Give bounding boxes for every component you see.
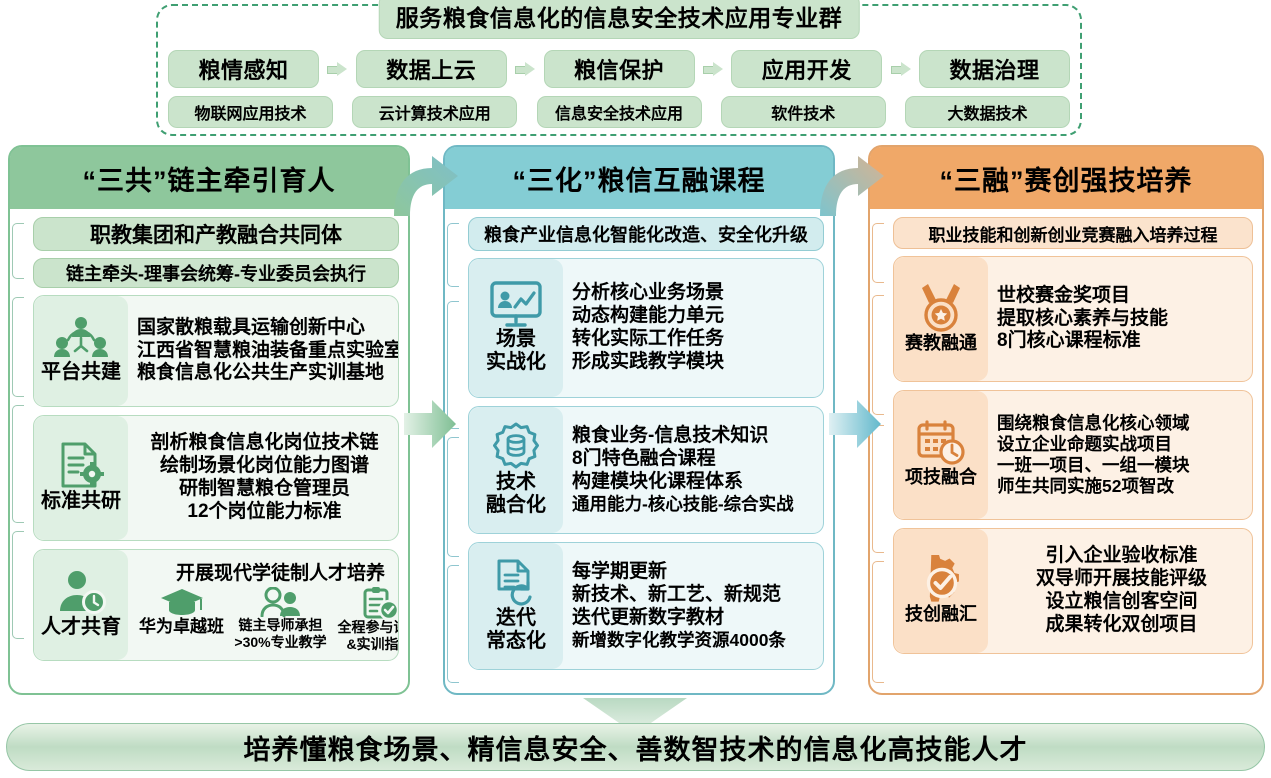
program-cluster-panel: 服务粮食信息化的信息安全技术应用专业群 粮情感知 数据上云 粮信保护 应用开发 …	[156, 4, 1082, 136]
scenario-line-4: 形成实践教学模块	[572, 351, 817, 374]
card-iteration-text: 每学期更新 新技术、新工艺、新规范 迭代更新数字教材 新增数字化教学资源4000…	[563, 543, 823, 669]
person-clock-icon	[55, 569, 107, 615]
column-left-header: “三共”链主牵引育人	[10, 147, 408, 209]
card-scenario-tag: 场景 实战化	[469, 259, 563, 397]
card-innovation-text: 引入企业验收标准 双导师开展技能评级 设立粮信创客空间 成果转化双创项目	[988, 529, 1252, 653]
curved-arrow-mid-to-right-icon	[818, 150, 888, 220]
card-talent-text: 开展现代学徒制人才培养 华为卓越班	[128, 550, 399, 660]
major-box-4[interactable]: 应用开发	[731, 50, 882, 88]
competition-line-1: 世校赛金奖项目	[997, 285, 1246, 308]
sub-major-box-2[interactable]: 云计算技术应用	[352, 96, 517, 128]
card-tech-text: 粮食业务-信息技术知识 8门特色融合课程 构建模块化课程体系 通用能力-核心技能…	[563, 407, 823, 533]
column-mid-header: “三化”粮信互融课程	[445, 147, 833, 209]
card-platform-tag-label: 平台共建	[41, 362, 121, 383]
standard-line-3: 研制智慧粮仓管理员	[137, 478, 392, 501]
band-governance: 链主牵头-理事会统筹-专业委员会执行	[33, 258, 399, 288]
talent-entry-1: 华为卓越班	[134, 587, 229, 637]
connector-rail-right-1	[872, 223, 884, 283]
column-sanhua: “三化”粮信互融课程 粮食产业信息化智能化改造、安全化升级	[443, 145, 835, 695]
card-scenario-text: 分析核心业务场景 动态构建能力单元 转化实际工作任务 形成实践教学模块	[563, 259, 823, 397]
card-scenario-tag-l1: 场景	[496, 329, 536, 350]
platform-line-3: 粮食信息化公共生产实训基地	[137, 362, 399, 385]
scenario-line-1: 分析核心业务场景	[572, 282, 817, 305]
connector-rail-mid-3	[447, 437, 459, 557]
card-project-tag: 项技融合	[894, 391, 988, 519]
project-line-3: 一班一项目、一组一模块	[997, 455, 1246, 476]
card-competition-tag-label: 赛教融通	[905, 334, 977, 353]
band-competition-integration: 职业技能和创新创业竞赛融入培养过程	[893, 217, 1253, 249]
curved-arrow-left-to-mid-icon	[392, 150, 462, 220]
talent-caption-3a: 全程参与评价	[338, 619, 400, 635]
calendar-clock-icon	[916, 420, 966, 466]
gear-database-icon	[491, 422, 541, 470]
talent-caption-3b: &实训指导	[346, 636, 399, 652]
connector-rail-left-3	[12, 405, 24, 523]
tech-line-1: 粮食业务-信息技术知识	[572, 425, 817, 448]
column-mid-body: 粮食产业信息化智能化改造、安全化升级 场景 实战化	[445, 209, 833, 687]
project-line-2: 设立企业命题实战项目	[997, 434, 1246, 455]
innovation-line-1: 引入企业验收标准	[997, 545, 1246, 568]
column-right-header: “三融”赛创强技培养	[870, 147, 1262, 209]
card-competition-tag: 赛教融通	[894, 257, 988, 381]
competition-line-3: 8门核心课程标准	[997, 330, 1246, 353]
arrow-right-icon-3	[703, 62, 723, 76]
connector-rail-mid-1	[447, 223, 459, 287]
talent-entries: 华为卓越班 链主导师承担 >30%专业教学	[134, 587, 399, 651]
band-vocational-group: 职教集团和产教融合共同体	[33, 217, 399, 251]
card-platform-cobuild[interactable]: 平台共建 国家散粮载具运输创新中心 江西省智慧粮油装备重点实验室 粮食信息化公共…	[33, 295, 399, 407]
arrow-right-icon-1	[327, 62, 347, 76]
sub-major-box-5[interactable]: 大数据技术	[905, 96, 1070, 128]
arrow-right-mid-to-right-icon	[829, 396, 881, 452]
iteration-line-3: 迭代更新数字教材	[572, 607, 817, 630]
talent-caption-1a: 华为卓越班	[139, 617, 224, 637]
card-standard-tag-label: 标准共研	[41, 491, 121, 512]
bottom-goal-banner: 培养懂粮食场景、精信息安全、善数智技术的信息化高技能人才	[6, 723, 1265, 771]
column-left-body: 职教集团和产教融合共同体 链主牵头-理事会统筹-专业委员会执行	[10, 209, 408, 678]
talent-caption-2b: >30%专业教学	[234, 634, 326, 650]
arrow-right-left-to-mid-icon	[404, 396, 456, 452]
card-tech-fusion[interactable]: 技术 融合化 粮食业务-信息技术知识 8门特色融合课程 构建模块化课程体系 通用…	[468, 406, 824, 534]
infographic-root: 服务粮食信息化的信息安全技术应用专业群 粮情感知 数据上云 粮信保护 应用开发 …	[0, 0, 1271, 778]
team-network-icon	[54, 316, 108, 360]
project-line-4: 师生共同实施52项智改	[997, 476, 1246, 497]
band-industry-upgrade: 粮食产业信息化智能化改造、安全化升级	[468, 217, 824, 251]
scenario-line-2: 动态构建能力单元	[572, 305, 817, 328]
innovation-line-3: 设立粮信创客空间	[997, 591, 1246, 614]
iteration-line-2: 新技术、新工艺、新规范	[572, 584, 817, 607]
card-project-skill[interactable]: 项技融合 围绕粮食信息化核心领域 设立企业命题实战项目 一班一项目、一组一模块 …	[893, 390, 1253, 520]
talent-caption-2a: 链主导师承担	[239, 617, 323, 633]
document-gear-icon	[56, 441, 106, 489]
card-iteration-tag: 迭代 常态化	[469, 543, 563, 669]
card-standard-coresearch[interactable]: 标准共研 剖析粮食信息化岗位技术链 绘制场景化岗位能力图谱 研制智慧粮仓管理员 …	[33, 415, 399, 541]
card-competition-teaching[interactable]: 赛教融通 世校赛金奖项目 提取核心素养与技能 8门核心课程标准	[893, 256, 1253, 382]
standard-line-4: 12个岗位能力标准	[137, 501, 392, 524]
clipboard-check-icon	[360, 587, 400, 619]
column-right-body: 职业技能和创新创业竞赛融入培养过程 赛教融通 世校赛金奖项目	[870, 209, 1262, 671]
graduation-cap-icon	[159, 587, 205, 617]
connector-rail-mid-4	[447, 565, 459, 683]
tech-line-3: 构建模块化课程体系	[572, 471, 817, 494]
platform-line-1: 国家散粮载具运输创新中心	[137, 317, 399, 340]
program-cluster-title: 服务粮食信息化的信息安全技术应用专业群	[379, 0, 860, 39]
major-box-2[interactable]: 数据上云	[356, 50, 507, 88]
major-name-row: 物联网应用技术 云计算技术应用 信息安全技术应用 软件技术 大数据技术	[168, 96, 1070, 128]
card-talent-tag: 人才共育	[34, 550, 128, 660]
card-talent-tag-label: 人才共育	[41, 617, 121, 638]
standard-line-2: 绘制场景化岗位能力图谱	[137, 455, 392, 478]
card-iteration-tag-l2: 常态化	[486, 631, 546, 652]
connector-rail-left-1	[12, 223, 24, 279]
connector-rail-right-4	[872, 561, 884, 683]
platform-line-2: 江西省智慧粮油装备重点实验室	[137, 340, 399, 363]
sub-major-box-3[interactable]: 信息安全技术应用	[537, 96, 702, 128]
medal-icon	[916, 282, 966, 332]
card-project-tag-label: 项技融合	[905, 468, 977, 487]
card-platform-tag: 平台共建	[34, 296, 128, 406]
document-refresh-icon	[492, 558, 540, 606]
tech-line-4: 通用能力-核心技能-综合实战	[572, 494, 817, 515]
column-sanrong: “三融”赛创强技培养 职业技能和创新创业竞赛融入培养过程	[868, 145, 1264, 695]
major-box-3[interactable]: 粮信保护	[544, 50, 695, 88]
sub-major-box-1[interactable]: 物联网应用技术	[168, 96, 333, 128]
card-tech-tag-l1: 技术	[496, 472, 536, 493]
project-line-1: 围绕粮食信息化核心领域	[997, 413, 1246, 434]
talent-entry-2: 链主导师承担 >30%专业教学	[233, 587, 328, 649]
column-sangong: “三共”链主牵引育人 职教集团和产教融合共同体 链主牵头-理事会统筹-专业委员会…	[8, 145, 410, 695]
card-standard-text: 剖析粮食信息化岗位技术链 绘制场景化岗位能力图谱 研制智慧粮仓管理员 12个岗位…	[128, 416, 398, 540]
card-innovation-tag: 技创融汇	[894, 529, 988, 653]
arrow-right-icon-2	[515, 62, 535, 76]
talent-entry-3: 全程参与评价 &实训指导	[332, 587, 399, 651]
iteration-line-1: 每学期更新	[572, 561, 817, 584]
connector-rail-left-2	[12, 297, 24, 397]
major-box-1[interactable]: 粮情感知	[168, 50, 319, 88]
major-direction-row: 粮情感知 数据上云 粮信保护 应用开发 数据治理	[168, 50, 1070, 88]
card-iteration-normalized[interactable]: 迭代 常态化 每学期更新 新技术、新工艺、新规范 迭代更新数字教材 新增数字化教…	[468, 542, 824, 670]
innovation-line-2: 双导师开展技能评级	[997, 568, 1246, 591]
card-innovation-tag-label: 技创融汇	[905, 605, 977, 624]
card-competition-text: 世校赛金奖项目 提取核心素养与技能 8门核心课程标准	[988, 257, 1252, 381]
connector-rail-left-4	[12, 531, 24, 639]
card-scenario-tag-l2: 实战化	[486, 352, 546, 373]
major-box-5[interactable]: 数据治理	[919, 50, 1070, 88]
card-iteration-tag-l1: 迭代	[496, 608, 536, 629]
tech-line-2: 8门特色融合课程	[572, 448, 817, 471]
innovation-line-4: 成果转化双创项目	[997, 614, 1246, 637]
sub-major-box-4[interactable]: 软件技术	[721, 96, 886, 128]
two-people-icon	[259, 587, 303, 617]
talent-heading: 开展现代学徒制人才培养	[134, 558, 399, 585]
card-skill-innovation[interactable]: 技创融汇 引入企业验收标准 双导师开展技能评级 设立粮信创客空间 成果转化双创项…	[893, 528, 1253, 654]
gear-check-icon	[916, 555, 966, 603]
scenario-line-3: 转化实际工作任务	[572, 328, 817, 351]
iteration-line-4: 新增数字化教学资源4000条	[572, 630, 817, 651]
card-tech-tag: 技术 融合化	[469, 407, 563, 533]
card-project-text: 围绕粮食信息化核心领域 设立企业命题实战项目 一班一项目、一组一模块 师生共同实…	[988, 391, 1252, 519]
card-platform-text: 国家散粮载具运输创新中心 江西省智慧粮油装备重点实验室 粮食信息化公共生产实训基…	[128, 296, 399, 406]
bottom-goal-text: 培养懂粮食场景、精信息安全、善数智技术的信息化高技能人才	[244, 728, 1028, 767]
card-talent-coeducation[interactable]: 人才共育 开展现代学徒制人才培养 华为卓越班	[33, 549, 399, 661]
standard-line-1: 剖析粮食信息化岗位技术链	[137, 432, 392, 455]
card-scenario-practice[interactable]: 场景 实战化 分析核心业务场景 动态构建能力单元 转化实际工作任务 形成实践教学…	[468, 258, 824, 398]
card-standard-tag: 标准共研	[34, 416, 128, 540]
competition-line-2: 提取核心素养与技能	[997, 308, 1246, 331]
monitor-chart-icon	[489, 281, 543, 327]
card-tech-tag-l2: 融合化	[486, 495, 546, 516]
arrow-right-icon-4	[891, 62, 911, 76]
